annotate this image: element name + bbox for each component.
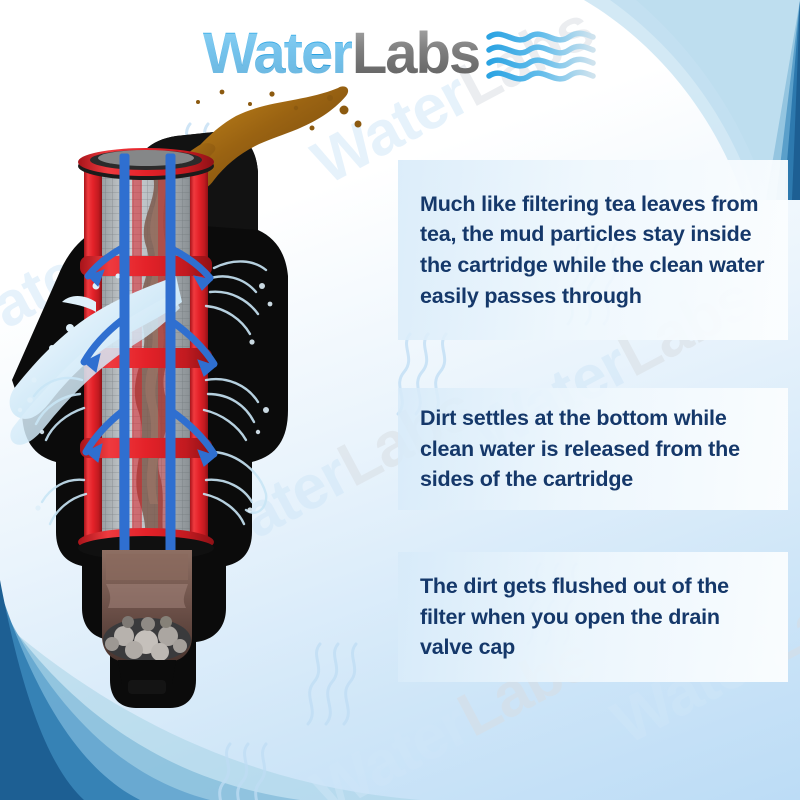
logo-text-water: Water bbox=[203, 25, 352, 83]
info-panel-1: Much like filtering tea leaves from tea,… bbox=[398, 160, 788, 340]
logo-text-labs: Labs bbox=[352, 25, 479, 83]
info-panel-2: Dirt settles at the bottom while clean w… bbox=[398, 388, 788, 510]
brand-logo: Water Labs bbox=[0, 14, 800, 94]
info-panel-3-text: The dirt gets flushed out of the filter … bbox=[420, 571, 772, 663]
filter-illustration bbox=[0, 80, 400, 730]
info-panel-1-text: Much like filtering tea leaves from tea,… bbox=[420, 189, 772, 311]
watermark-wave-icon bbox=[210, 740, 280, 800]
water-waves-icon bbox=[485, 25, 597, 83]
infographic-page: WaterLabs WaterLabs WaterLabs WaterLabs … bbox=[0, 0, 800, 800]
info-panel-3: The dirt gets flushed out of the filter … bbox=[398, 552, 788, 682]
info-panel-2-text: Dirt settles at the bottom while clean w… bbox=[420, 403, 772, 495]
